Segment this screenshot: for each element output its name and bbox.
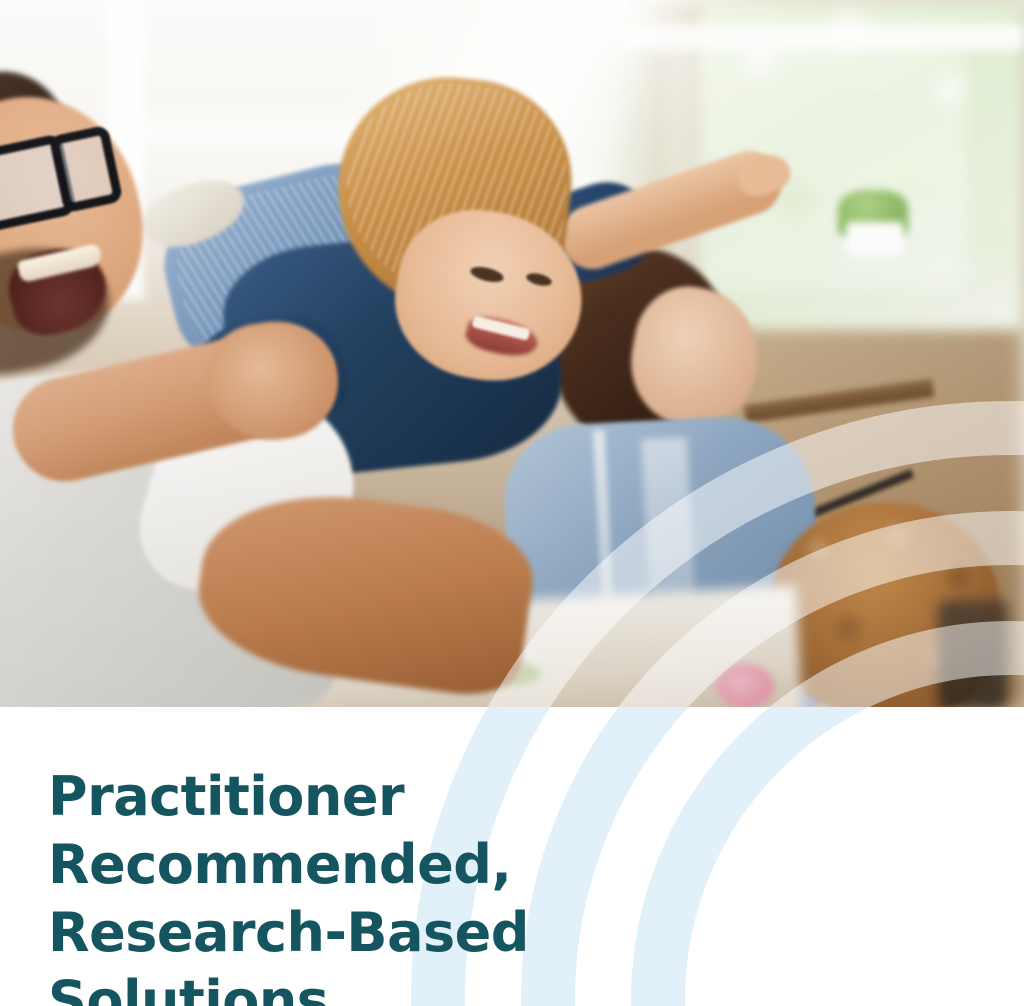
hero-photo [0, 0, 1024, 707]
photo-tone-overlay [0, 0, 1024, 707]
page-title: Practitioner Recommended, Research-Based… [48, 763, 668, 1006]
hero-card: Practitioner Recommended, Research-Based… [0, 0, 1024, 1006]
